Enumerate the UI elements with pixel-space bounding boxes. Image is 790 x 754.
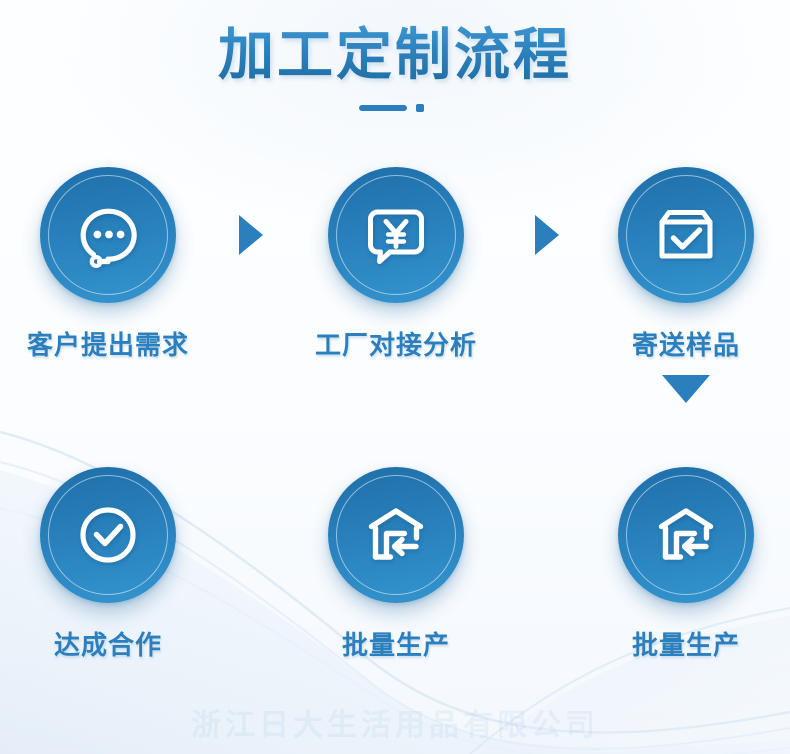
step-icon-circle [40, 167, 176, 303]
flow-row-top: 客户提出需求 工厂对接分析 [0, 160, 790, 460]
page-header: 加工定制流程 [0, 24, 790, 113]
step-icon-circle [328, 167, 464, 303]
circle-check-icon [71, 498, 145, 572]
arrow-right-icon [239, 215, 263, 255]
infographic-page: 浙江日大生活用品有限公司 加工定制流程 [0, 0, 790, 754]
arrow-down-icon [662, 375, 710, 403]
step-label: 批量生产 [291, 625, 501, 662]
process-flow: 客户提出需求 工厂对接分析 [0, 160, 790, 754]
step-label: 批量生产 [581, 625, 790, 662]
step-factory-analysis[interactable]: 工厂对接分析 [291, 160, 501, 362]
divider-bar [359, 105, 407, 111]
step-icon-circle [618, 167, 754, 303]
step-label: 客户提出需求 [3, 325, 213, 362]
page-title: 加工定制流程 [218, 24, 572, 86]
step-label: 工厂对接分析 [291, 325, 501, 362]
step-mass-production-1[interactable]: 批量生产 [291, 460, 501, 662]
step-mass-production-2[interactable]: 批量生产 [581, 460, 790, 662]
flow-row-bottom: 达成合作 批量生产 [0, 460, 790, 754]
factory-arrow-left-icon [359, 498, 433, 572]
step-icon-circle [328, 467, 464, 603]
speech-bubble-yuan-icon [359, 198, 433, 272]
step-label: 达成合作 [3, 625, 213, 662]
step-label: 寄送样品 [581, 325, 790, 362]
chat-bubble-dots-icon [71, 198, 145, 272]
factory-arrow-left-icon [649, 498, 723, 572]
step-cooperation-achieved[interactable]: 达成合作 [3, 460, 213, 662]
step-icon-circle [618, 467, 754, 603]
arrow-right-icon [535, 215, 559, 255]
title-divider [359, 102, 431, 113]
step-icon-circle [40, 467, 176, 603]
box-check-icon [649, 198, 723, 272]
divider-dot [416, 104, 424, 112]
step-customer-request[interactable]: 客户提出需求 [3, 160, 213, 362]
step-send-sample[interactable]: 寄送样品 [581, 160, 790, 362]
